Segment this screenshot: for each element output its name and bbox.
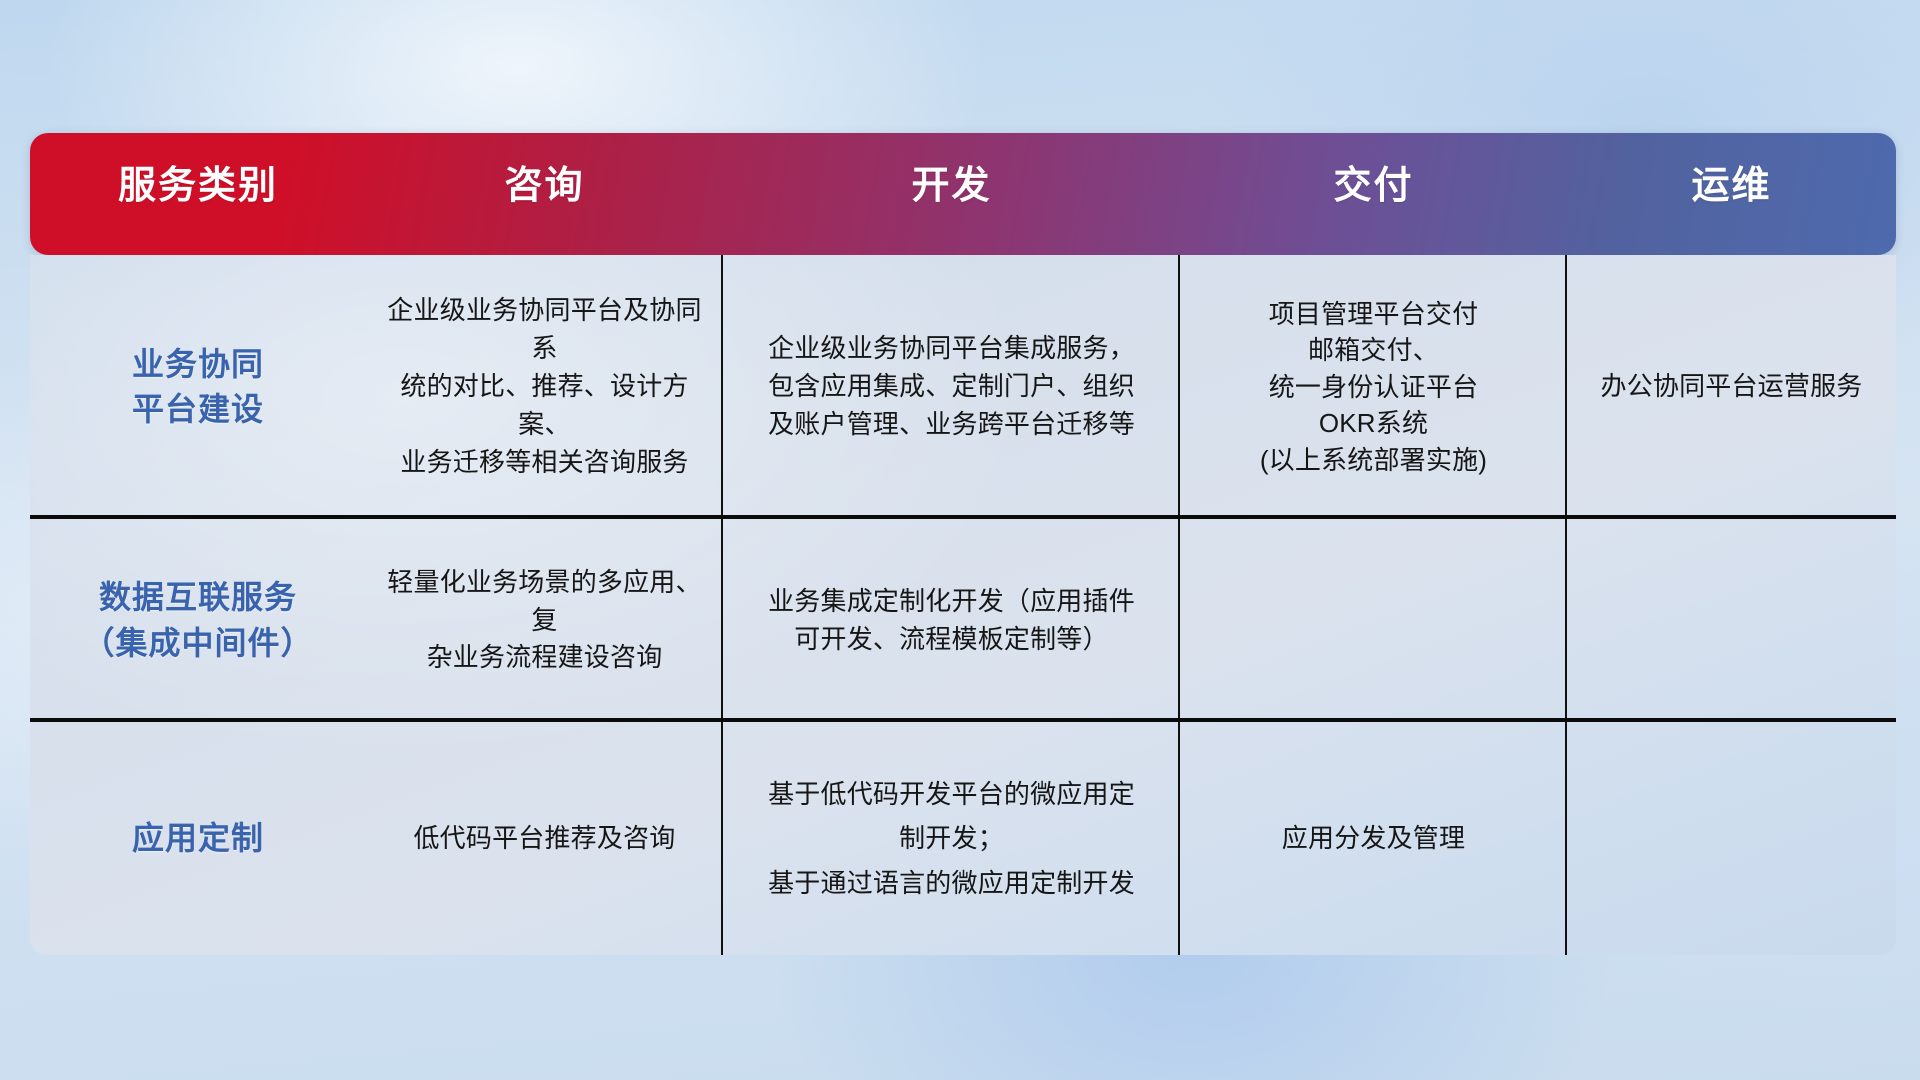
cell-text: 应用分发及管理 — [1282, 820, 1465, 858]
table-header-label-consulting: 咨询 — [504, 154, 584, 209]
cell-text: 轻量化业务场景的多应用、复 杂业务流程建设咨询 — [380, 564, 709, 678]
table-row: 应用定制 低代码平台推荐及咨询 基于低代码开发平台的微应用定 制开发； 基于通过… — [30, 722, 1896, 955]
row-label-cell-2: 应用定制 — [30, 722, 366, 955]
cell-text: 企业级业务协同平台及协同系 统的对比、推荐、设计方案、 业务迁移等相关咨询服务 — [380, 292, 709, 482]
cell-consulting-1: 轻量化业务场景的多应用、复 杂业务流程建设咨询 — [366, 519, 723, 722]
table-header-label-service-category: 服务类别 — [118, 154, 278, 209]
row-label-text: 业务协同 平台建设 — [132, 342, 264, 433]
table-header-label-operations: 运维 — [1691, 154, 1771, 209]
table-header-cell-consulting: 咨询 — [366, 133, 723, 255]
row-label-text: 数据互联服务 （集成中间件） — [82, 575, 313, 666]
cell-development-0: 企业级业务协同平台集成服务， 包含应用集成、定制门户、组织 及账户管理、业务跨平… — [723, 255, 1180, 519]
table-header-cell-delivery: 交付 — [1180, 133, 1567, 255]
service-matrix-table: 服务类别 咨询 开发 交付 运维 业务协同 平台建设 企业级业务协同平台及协同系… — [30, 133, 1896, 955]
cell-text: 低代码平台推荐及咨询 — [413, 820, 675, 858]
cell-operations-2 — [1567, 722, 1896, 955]
cell-text: 项目管理平台交付 邮箱交付、 统一身份认证平台 OKR系统 (以上系统部署实施) — [1260, 296, 1487, 478]
cell-operations-0: 办公协同平台运营服务 — [1567, 255, 1896, 519]
row-label-text: 应用定制 — [132, 816, 264, 861]
table-row: 业务协同 平台建设 企业级业务协同平台及协同系 统的对比、推荐、设计方案、 业务… — [30, 255, 1896, 519]
row-label-cell-0: 业务协同 平台建设 — [30, 255, 366, 519]
table-row: 数据互联服务 （集成中间件） 轻量化业务场景的多应用、复 杂业务流程建设咨询 业… — [30, 519, 1896, 722]
cell-delivery-2: 应用分发及管理 — [1180, 722, 1567, 955]
cell-development-1: 业务集成定制化开发（应用插件 可开发、流程模板定制等） — [723, 519, 1180, 722]
cell-text: 业务集成定制化开发（应用插件 可开发、流程模板定制等） — [768, 583, 1135, 659]
cell-text: 基于低代码开发平台的微应用定 制开发； 基于通过语言的微应用定制开发 — [768, 772, 1135, 905]
cell-consulting-2: 低代码平台推荐及咨询 — [366, 722, 723, 955]
cell-operations-1 — [1567, 519, 1896, 722]
table-body: 业务协同 平台建设 企业级业务协同平台及协同系 统的对比、推荐、设计方案、 业务… — [30, 255, 1896, 955]
cell-development-2: 基于低代码开发平台的微应用定 制开发； 基于通过语言的微应用定制开发 — [723, 722, 1180, 955]
cell-text: 办公协同平台运营服务 — [1600, 368, 1862, 406]
cell-delivery-1 — [1180, 519, 1567, 722]
table-header-label-development: 开发 — [911, 154, 991, 209]
cell-delivery-0: 项目管理平台交付 邮箱交付、 统一身份认证平台 OKR系统 (以上系统部署实施) — [1180, 255, 1567, 519]
table-header-cell-service-category: 服务类别 — [30, 133, 366, 255]
table-header-cell-operations: 运维 — [1567, 133, 1896, 255]
cell-text: 企业级业务协同平台集成服务， 包含应用集成、定制门户、组织 及账户管理、业务跨平… — [768, 330, 1135, 444]
row-label-cell-1: 数据互联服务 （集成中间件） — [30, 519, 366, 722]
table-header-cell-development: 开发 — [723, 133, 1180, 255]
table-header-row: 服务类别 咨询 开发 交付 运维 — [30, 133, 1896, 255]
cell-consulting-0: 企业级业务协同平台及协同系 统的对比、推荐、设计方案、 业务迁移等相关咨询服务 — [366, 255, 723, 519]
table-header-label-delivery: 交付 — [1333, 154, 1413, 209]
